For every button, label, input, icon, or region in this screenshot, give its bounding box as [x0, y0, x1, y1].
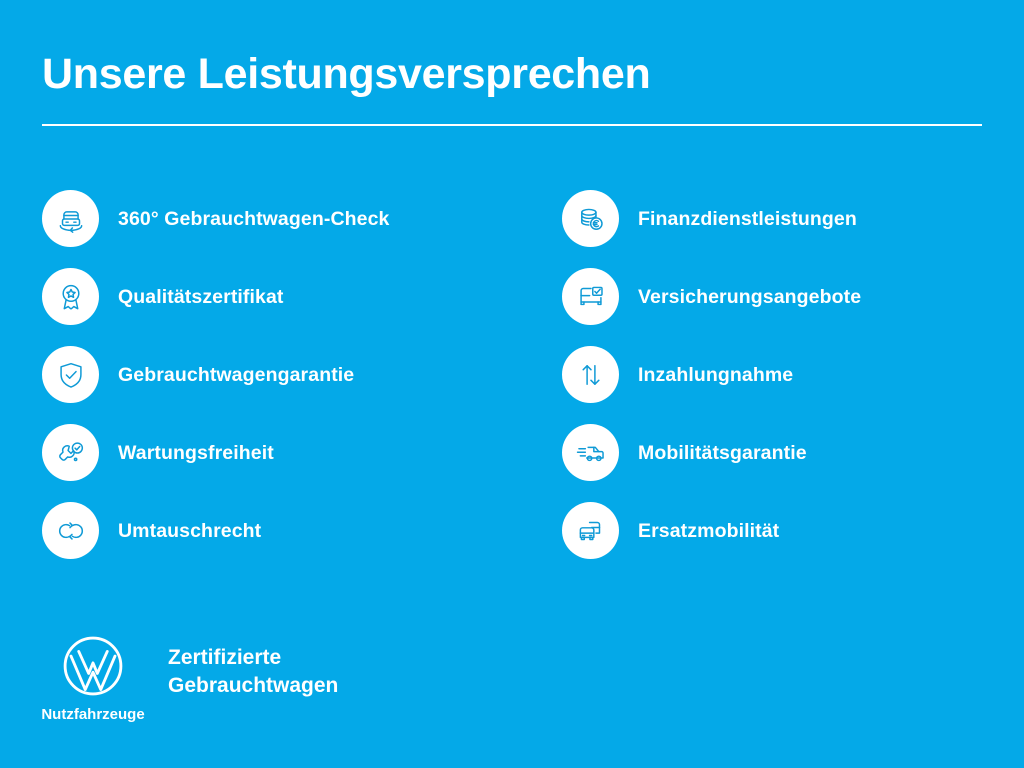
volkswagen-logo-icon	[62, 635, 124, 697]
brand-sub-label: Nutzfahrzeuge	[41, 706, 144, 724]
feature-column-right: Finanzdienstleistungen Versicherungsange…	[562, 190, 982, 559]
brand-claim: Zertifizierte Gebrauchtwagen	[168, 644, 338, 700]
feature-list: 360° Gebrauchtwagen-Check Qualitätszerti…	[42, 190, 982, 559]
van-checkbox-icon	[562, 268, 619, 325]
coins-euro-icon	[562, 190, 619, 247]
feature-item-gebrauchtwagen-check[interactable]: 360° Gebrauchtwagen-Check	[42, 190, 562, 247]
feature-item-versicherungsangebote[interactable]: Versicherungsangebote	[562, 268, 982, 325]
feature-item-inzahlungnahme[interactable]: Inzahlungnahme	[562, 346, 982, 403]
title-divider	[42, 124, 982, 126]
feature-item-ersatzmobilitaet[interactable]: Ersatzmobilität	[562, 502, 982, 559]
feature-label: Finanzdienstleistungen	[638, 207, 857, 231]
two-vans-icon	[562, 502, 619, 559]
brand-lockup: Nutzfahrzeuge Zertifizierte Gebrauchtwag…	[40, 635, 338, 724]
feature-item-qualitaetszertifikat[interactable]: Qualitätszertifikat	[42, 268, 562, 325]
exchange-arrows-icon	[42, 502, 99, 559]
feature-label: Versicherungsangebote	[638, 285, 861, 309]
van-motion-icon	[562, 424, 619, 481]
feature-column-left: 360° Gebrauchtwagen-Check Qualitätszerti…	[42, 190, 562, 559]
feature-item-wartungsfreiheit[interactable]: Wartungsfreiheit	[42, 424, 562, 481]
feature-item-finanzdienstleistungen[interactable]: Finanzdienstleistungen	[562, 190, 982, 247]
shield-check-icon	[42, 346, 99, 403]
feature-label: Umtauschrecht	[118, 519, 261, 543]
feature-label: Mobilitätsgarantie	[638, 441, 807, 465]
award-rosette-icon	[42, 268, 99, 325]
wrench-check-icon	[42, 424, 99, 481]
brand-mark: Nutzfahrzeuge	[40, 635, 146, 724]
feature-label: Inzahlungnahme	[638, 363, 793, 387]
feature-label: Wartungsfreiheit	[118, 441, 274, 465]
feature-item-mobilitaetsgarantie[interactable]: Mobilitätsgarantie	[562, 424, 982, 481]
page-title: Unsere Leistungsversprechen	[42, 48, 982, 100]
brand-claim-line2: Gebrauchtwagen	[168, 672, 338, 700]
brand-claim-line1: Zertifizierte	[168, 644, 338, 672]
car-360-check-icon	[42, 190, 99, 247]
slide-header: Unsere Leistungsversprechen	[42, 48, 982, 126]
feature-label: Qualitätszertifikat	[118, 285, 284, 309]
feature-label: Gebrauchtwagengarantie	[118, 363, 354, 387]
feature-label: 360° Gebrauchtwagen-Check	[118, 207, 389, 231]
arrows-up-down-icon	[562, 346, 619, 403]
feature-item-umtauschrecht[interactable]: Umtauschrecht	[42, 502, 562, 559]
feature-item-gebrauchtwagengarantie[interactable]: Gebrauchtwagengarantie	[42, 346, 562, 403]
slide-root: Unsere Leistungsversprechen 360° Gebrauc	[0, 0, 1024, 768]
feature-label: Ersatzmobilität	[638, 519, 779, 543]
